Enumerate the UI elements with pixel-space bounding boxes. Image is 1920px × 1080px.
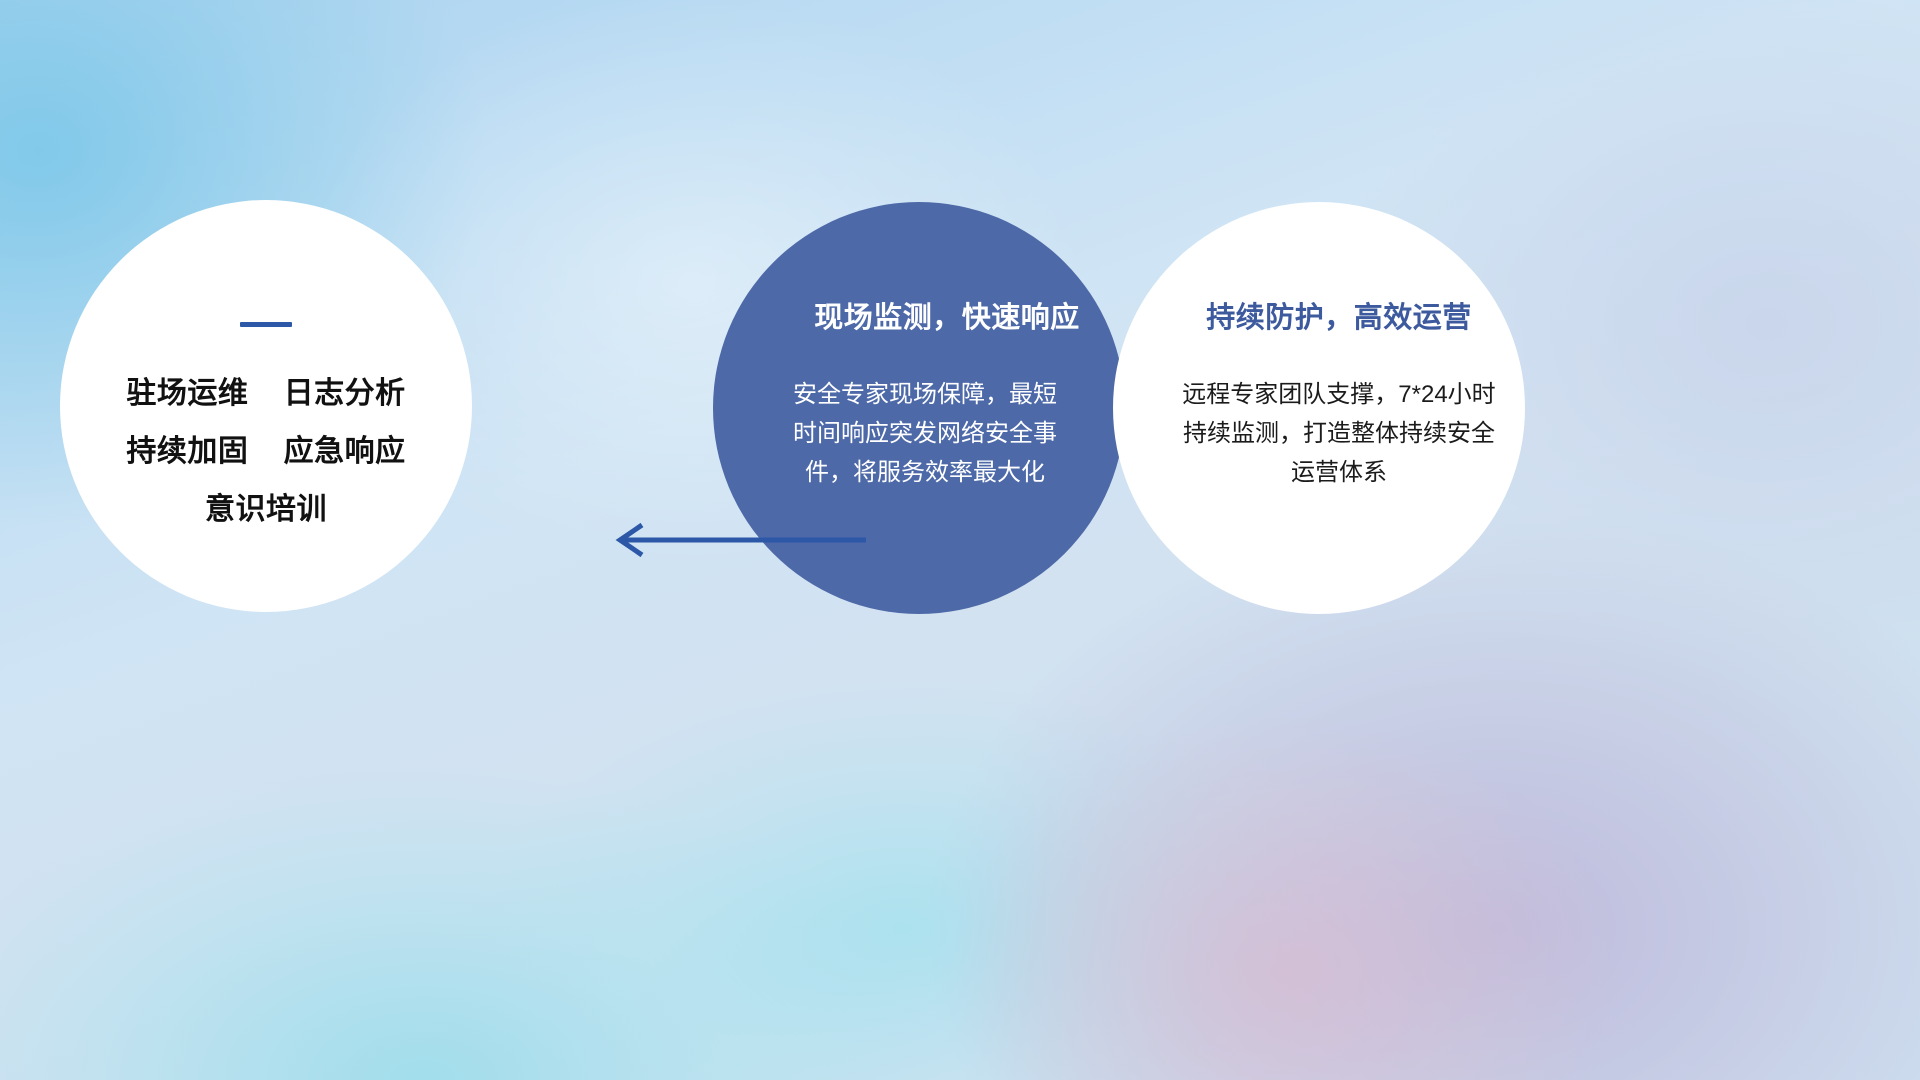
slide-canvas: 驻场运维 日志分析 持续加固 应急响应 意识培训 现场监测，快速响应 安全专家现… [0,0,1920,1080]
middle-circle-heading: 现场监测，快速响应 [814,294,1080,336]
right-circle-heading: 持续防护，高效运营 [1206,294,1472,336]
list-item: 持续加固 应急响应 [126,423,405,481]
list-item: 驻场运维 日志分析 [126,365,405,423]
arrow-left-icon [608,515,868,565]
right-circle-body: 远程专家团队支撑，7*24小时持续监测，打造整体持续安全运营体系 [1174,376,1504,493]
left-capability-circle[interactable]: 驻场运维 日志分析 持续加固 应急响应 意识培训 [60,200,472,612]
blue-divider-rule [240,322,292,327]
left-capability-list: 驻场运维 日志分析 持续加固 应急响应 意识培训 [126,365,405,539]
list-item: 意识培训 [126,481,405,539]
middle-circle-body: 安全专家现场保障，最短时间响应突发网络安全事件，将服务效率最大化 [786,376,1064,493]
right-continuous-protection-circle[interactable]: 持续防护，高效运营 远程专家团队支撑，7*24小时持续监测，打造整体持续安全运营… [1113,202,1525,614]
